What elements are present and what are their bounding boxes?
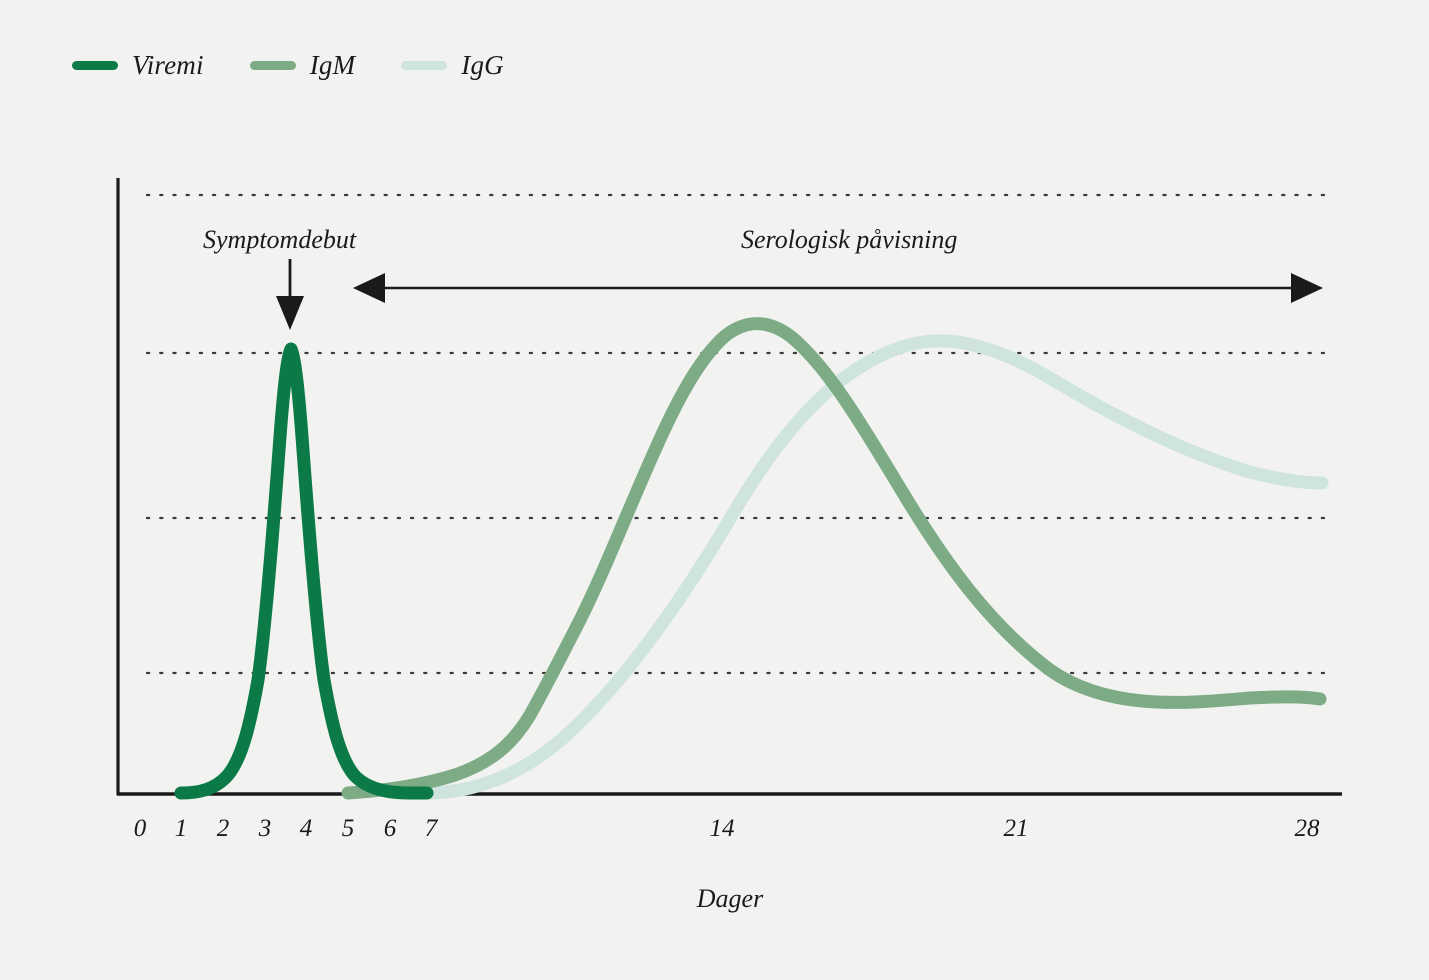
- chart-container: Viremi IgM IgG: [0, 0, 1429, 980]
- x-axis-title: Dager: [697, 884, 763, 914]
- x-tick-label-28: 28: [1295, 815, 1320, 843]
- serology-arrowhead-right: [1291, 273, 1323, 303]
- serology-arrowhead-left: [353, 273, 385, 303]
- curve-igm: [348, 324, 1320, 793]
- x-tick-label-3: 3: [259, 815, 272, 843]
- annotation-serology-window: Serologisk påvisning: [741, 225, 957, 255]
- x-tick-label-0: 0: [134, 815, 147, 843]
- curve-igg: [430, 341, 1322, 793]
- symptom-arrowhead: [276, 296, 304, 330]
- x-tick-label-5: 5: [342, 815, 355, 843]
- symptom-onset-down-arrow-icon: [276, 259, 304, 330]
- x-tick-label-1: 1: [175, 815, 188, 843]
- series-curves: [181, 324, 1322, 793]
- x-tick-label-2: 2: [217, 815, 230, 843]
- serology-double-arrow-icon: [353, 273, 1323, 303]
- x-tick-label-7: 7: [425, 815, 438, 843]
- x-tick-label-4: 4: [300, 815, 313, 843]
- x-tick-label-21: 21: [1004, 815, 1029, 843]
- x-tick-label-6: 6: [384, 815, 397, 843]
- x-tick-label-14: 14: [710, 815, 735, 843]
- annotation-symptom-onset: Symptomdebut: [203, 225, 356, 255]
- curve-viremi: [181, 349, 427, 793]
